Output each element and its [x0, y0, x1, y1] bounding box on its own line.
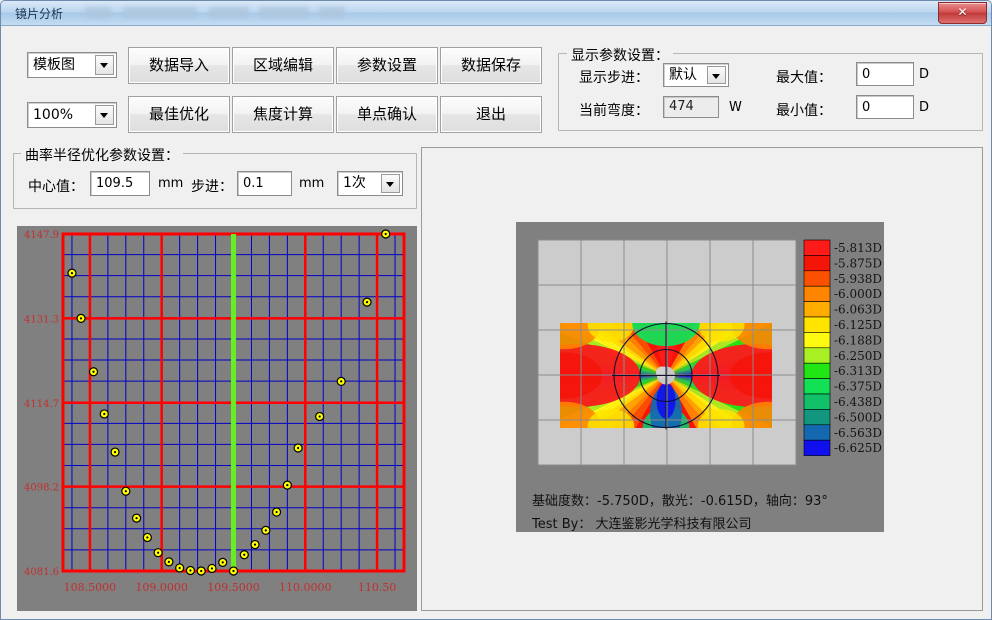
optimization-sample-point	[316, 412, 324, 420]
optimization-sample-point	[283, 481, 291, 489]
colorbar-label: -5.813D	[834, 241, 882, 255]
region-edit-label: 区域编辑	[233, 48, 333, 83]
optimization-sample-point	[154, 549, 162, 557]
center-value-unit: mm	[158, 176, 183, 191]
optimization-sample-point	[176, 564, 184, 572]
window-title: 镜片分析	[15, 5, 63, 22]
optimization-sample-point	[251, 541, 259, 549]
center-value-label: 中心值：	[28, 176, 84, 196]
optimization-sample-point	[382, 230, 390, 238]
optimization-sample-point	[208, 564, 216, 572]
optimization-sample-point	[111, 448, 119, 456]
parameter-settings-label: 参数设置	[337, 48, 437, 83]
optimization-sample-point	[262, 526, 270, 534]
colorbar-swatch	[804, 425, 830, 440]
optimization-sample-point	[90, 368, 98, 376]
colorbar-label: -6.375D	[834, 380, 882, 394]
colorbar-swatch	[804, 240, 830, 255]
colorbar-swatch	[804, 255, 830, 270]
lens-analysis-window: 镜片分析 ✕ 模板图 100% 数据导入 区域编辑 参数设置 数据保存 最佳优化…	[0, 0, 992, 620]
region-edit-button[interactable]: 区域编辑	[232, 47, 334, 84]
close-icon: ✕	[939, 3, 986, 23]
optimization-sample-point	[100, 410, 108, 418]
colorbar-label: -6.563D	[834, 426, 882, 440]
scatter-plot-canvas: 4147.94131.34114.74098.24081.6108.500010…	[17, 226, 417, 611]
optimization-sample-point	[273, 508, 281, 516]
colorbar-swatch	[804, 271, 830, 286]
best-optimization-label: 最佳优化	[129, 97, 229, 132]
single-point-confirm-label: 单点确认	[337, 97, 437, 132]
colorbar-label: -6.500D	[834, 410, 882, 424]
x-tick-label: 110.50	[358, 581, 397, 594]
step-unit: mm	[299, 176, 324, 191]
colorbar-label: -6.000D	[834, 287, 882, 301]
y-tick-label: 4131.3	[24, 314, 59, 325]
iteration-count-select[interactable]: 1次	[337, 171, 403, 196]
x-tick-label: 109.5000	[207, 581, 260, 594]
optimization-sample-point	[197, 567, 205, 575]
redacted-title-fragment-5	[319, 7, 345, 18]
exit-button[interactable]: 退出	[440, 96, 542, 133]
colorbar-label: -6.438D	[834, 395, 882, 409]
optimization-sample-point	[133, 514, 141, 522]
colorbar-swatch	[804, 379, 830, 394]
chevron-down-icon[interactable]	[381, 174, 400, 193]
x-tick-label: 108.5000	[64, 581, 117, 594]
exit-label: 退出	[441, 97, 541, 132]
chevron-down-icon[interactable]	[95, 55, 114, 75]
close-button[interactable]: ✕	[938, 2, 987, 24]
optimization-scatter-chart[interactable]: 4147.94131.34114.74098.24081.6108.500010…	[17, 226, 417, 611]
colorbar-label: -6.250D	[834, 349, 882, 363]
display-step-value: 默认	[669, 64, 706, 86]
curvature-unit: W	[729, 100, 742, 115]
colorbar-label: -6.313D	[834, 364, 882, 378]
redacted-title-fragment-4	[259, 7, 309, 18]
colorbar-label: -6.188D	[834, 333, 882, 347]
step-label: 步进：	[191, 176, 233, 196]
display-step-select[interactable]: 默认	[663, 63, 729, 87]
colorbar: -5.813D-5.875D-5.938D-6.000D-6.063D-6.12…	[804, 240, 882, 456]
focal-power-calc-label: 焦度计算	[233, 97, 333, 132]
colorbar-swatch	[804, 348, 830, 363]
template-select[interactable]: 模板图	[27, 52, 117, 78]
heatmap-caption-prescription: 基础度数：-5.750D，散光：-0.615D，轴向：93°	[532, 490, 828, 509]
redacted-title-fragment-1	[85, 7, 111, 18]
optimization-sample-point	[337, 377, 345, 385]
colorbar-label: -6.063D	[834, 303, 882, 317]
y-tick-label: 4114.7	[24, 399, 59, 410]
colorbar-label: -5.875D	[834, 256, 882, 270]
redacted-title-fragment-3	[209, 7, 249, 18]
heatmap-canvas: -5.813D-5.875D-5.938D-6.000D-6.063D-6.12…	[516, 222, 884, 487]
optimization-sample-point	[77, 314, 85, 322]
lens-power-heatmap-card[interactable]: -5.813D-5.875D-5.938D-6.000D-6.063D-6.12…	[516, 222, 884, 532]
colorbar-swatch	[804, 394, 830, 409]
colorbar-label: -6.625D	[834, 441, 882, 455]
save-data-button[interactable]: 数据保存	[440, 47, 542, 84]
radius-params-group-title: 曲率半径优化参数设置：	[21, 145, 183, 165]
colorbar-swatch	[804, 409, 830, 424]
colorbar-swatch	[804, 440, 830, 455]
redacted-title-fragment-2	[123, 7, 197, 18]
current-curvature-label: 当前弯度：	[579, 100, 649, 120]
zoom-select[interactable]: 100%	[27, 102, 117, 128]
min-value-input[interactable]: 0	[856, 95, 914, 119]
iteration-count-value: 1次	[343, 172, 380, 195]
min-value-unit: D	[919, 100, 929, 115]
chevron-down-icon[interactable]	[95, 105, 114, 125]
import-data-button[interactable]: 数据导入	[128, 47, 230, 84]
template-select-value: 模板图	[33, 53, 94, 77]
center-value-input[interactable]: 109.5	[90, 171, 150, 196]
import-data-label: 数据导入	[129, 48, 229, 83]
optimization-sample-point	[230, 567, 238, 575]
y-tick-label: 4081.6	[24, 567, 59, 578]
colorbar-swatch	[804, 302, 830, 317]
title-bar: 镜片分析 ✕	[1, 1, 992, 26]
colorbar-label: -5.938D	[834, 272, 882, 286]
display-params-group-title: 显示参数设置：	[567, 45, 673, 65]
optimization-sample-point	[363, 298, 371, 306]
zoom-select-value: 100%	[33, 103, 94, 127]
optimization-sample-point	[294, 444, 302, 452]
focal-power-calc-button[interactable]: 焦度计算	[232, 96, 334, 133]
heatmap-caption-testby: Test By： 大连鉴影光学科技有限公司	[532, 513, 751, 532]
optimization-sample-point	[165, 558, 173, 566]
optimization-sample-point	[219, 558, 227, 566]
step-input[interactable]: 0.1	[237, 171, 292, 196]
optimization-sample-point	[68, 269, 76, 277]
y-tick-label: 4098.2	[24, 483, 59, 494]
y-tick-label: 4147.9	[24, 230, 59, 241]
max-value-unit: D	[919, 67, 929, 82]
x-tick-label: 109.0000	[135, 581, 188, 594]
optimization-sample-point	[186, 566, 194, 574]
best-optimization-button[interactable]: 最佳优化	[128, 96, 230, 133]
display-step-label: 显示步进：	[579, 67, 649, 87]
parameter-settings-button[interactable]: 参数设置	[336, 47, 438, 84]
optimization-sample-point	[122, 487, 130, 495]
chevron-down-icon[interactable]	[707, 66, 726, 84]
single-point-confirm-button[interactable]: 单点确认	[336, 96, 438, 133]
colorbar-label: -6.125D	[834, 318, 882, 332]
current-curvature-value: 474	[663, 96, 719, 118]
save-data-label: 数据保存	[441, 48, 541, 83]
optimization-sample-point	[240, 551, 248, 559]
colorbar-swatch	[804, 286, 830, 301]
optimization-sample-point	[143, 533, 151, 541]
colorbar-swatch	[804, 332, 830, 347]
colorbar-swatch	[804, 363, 830, 378]
min-value-label: 最小值：	[776, 100, 832, 120]
max-value-input[interactable]: 0	[856, 62, 914, 86]
x-tick-label: 110.0000	[279, 581, 332, 594]
colorbar-swatch	[804, 317, 830, 332]
max-value-label: 最大值：	[776, 67, 832, 87]
